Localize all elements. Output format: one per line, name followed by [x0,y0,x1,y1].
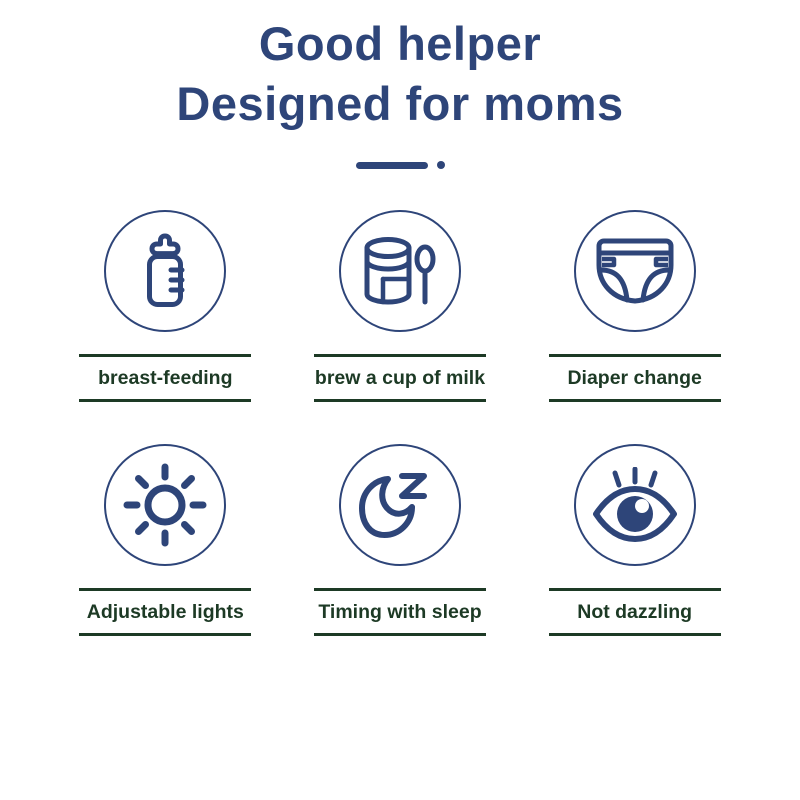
divider-bar-icon [356,162,428,169]
sun-icon [123,463,207,547]
feature-item-adjustable-lights[interactable]: Adjustable lights [48,444,283,636]
feature-item-not-dazzling[interactable]: Not dazzling [517,444,752,636]
headline-line-2: Designed for moms [0,74,800,134]
icon-circle [339,210,461,332]
feature-item-breast-feeding[interactable]: breast-feeding [48,210,283,402]
feature-grid: breast-feeding brew a cup of milk [0,210,800,636]
label-rule-bottom [79,633,251,636]
feature-label: Adjustable lights [79,591,251,633]
page-title: Good helper Designed for moms [0,0,800,134]
feature-label: Timing with sleep [314,591,486,633]
eye-icon [590,467,680,543]
feature-label: brew a cup of milk [314,357,486,399]
feature-label-block: Timing with sleep [314,588,486,636]
icon-circle [574,210,696,332]
heading-divider [0,158,800,172]
feature-label: Not dazzling [549,591,721,633]
label-rule-bottom [549,399,721,402]
icon-circle [104,444,226,566]
divider-dot-icon [437,161,445,169]
label-rule-bottom [549,633,721,636]
feature-label: Diaper change [549,357,721,399]
feature-panel: Good helper Designed for moms breast-fee… [0,0,800,800]
feature-label-block: Diaper change [549,354,721,402]
diaper-icon [594,237,676,305]
headline-line-1: Good helper [0,14,800,74]
feature-item-diaper-change[interactable]: Diaper change [517,210,752,402]
label-rule-bottom [314,633,486,636]
feature-label: breast-feeding [79,357,251,399]
feature-label-block: brew a cup of milk [314,354,486,402]
feature-label-block: Adjustable lights [79,588,251,636]
moon-sleep-icon [358,463,442,547]
feature-item-brew-milk[interactable]: brew a cup of milk [283,210,518,402]
icon-circle [339,444,461,566]
icon-circle [574,444,696,566]
label-rule-bottom [79,399,251,402]
feature-item-timing-sleep[interactable]: Timing with sleep [283,444,518,636]
feature-label-block: breast-feeding [79,354,251,402]
milk-can-spoon-icon [358,233,442,309]
label-rule-bottom [314,399,486,402]
baby-bottle-icon [129,232,201,310]
icon-circle [104,210,226,332]
feature-label-block: Not dazzling [549,588,721,636]
